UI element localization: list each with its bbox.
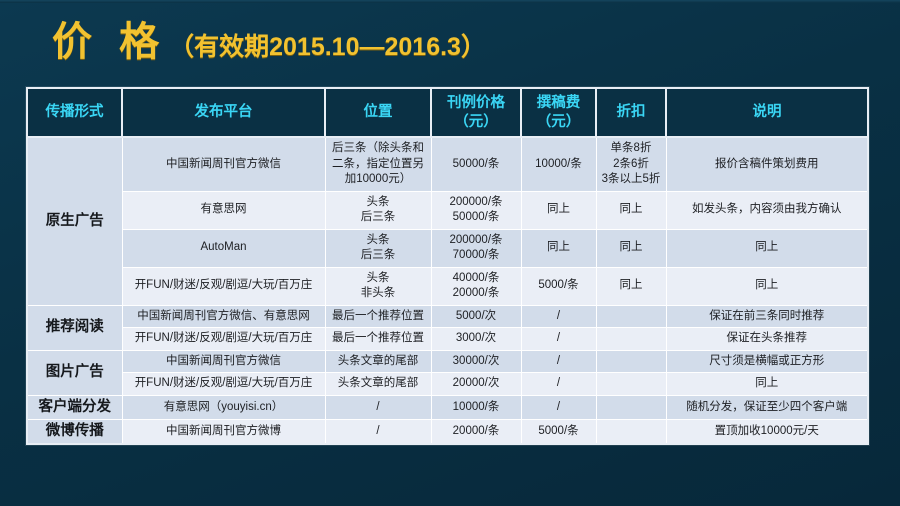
table-row: 客户端分发有意思网（youyisi.cn）/10000/条/随机分发，保证至少四… <box>28 395 867 419</box>
table-row: 有意思网头条 后三条200000/条 50000/条同上同上如发头条，内容须由我… <box>28 191 867 229</box>
table-row: 开FUN/财迷/反观/剧逗/大玩/百万庄最后一个推荐位置3000/次/保证在头条… <box>28 328 867 351</box>
cell-price: 200000/条 70000/条 <box>431 229 521 267</box>
cell-fee: 同上 <box>521 229 596 267</box>
cell-discount <box>596 328 666 351</box>
page-title: 价 格 （有效期2015.10—2016.3） <box>52 22 486 62</box>
cell-note: 同上 <box>666 373 867 396</box>
cell-platform: 有意思网（youyisi.cn） <box>122 395 325 419</box>
cell-fee: 5000/条 <box>521 420 596 444</box>
cell-discount <box>596 373 666 396</box>
table-row: 开FUN/财迷/反观/剧逗/大玩/百万庄头条文章的尾部20000/次/同上 <box>28 373 867 396</box>
cell-discount <box>596 350 666 373</box>
cell-note: 如发头条，内容须由我方确认 <box>666 191 867 229</box>
cell-price: 20000/条 <box>431 420 521 444</box>
column-header-price: 刊例价格 （元） <box>431 89 521 137</box>
cell-note: 同上 <box>666 229 867 267</box>
price-table: 传播形式 发布平台 位置 刊例价格 （元） 撰稿费 （元） 折扣 说明 原生广告… <box>28 89 867 443</box>
cell-discount: 单条8折 2条6折 3条以上5折 <box>596 137 666 191</box>
cell-platform: 中国新闻周刊官方微博 <box>122 420 325 444</box>
table-row: 图片广告中国新闻周刊官方微信头条文章的尾部30000/次/尺寸须是横幅或正方形 <box>28 350 867 373</box>
cell-note: 尺寸须是横幅或正方形 <box>666 350 867 373</box>
cell-position: 头条 后三条 <box>325 191 431 229</box>
cell-platform: 开FUN/财迷/反观/剧逗/大玩/百万庄 <box>122 267 325 305</box>
cell-platform: 中国新闻周刊官方微信、有意思网 <box>122 305 325 328</box>
table-row: 推荐阅读中国新闻周刊官方微信、有意思网最后一个推荐位置5000/次/保证在前三条… <box>28 305 867 328</box>
cell-price: 200000/条 50000/条 <box>431 191 521 229</box>
cell-position: 最后一个推荐位置 <box>325 328 431 351</box>
column-header-form: 传播形式 <box>28 89 122 137</box>
cell-category: 图片广告 <box>28 350 122 395</box>
cell-platform: 开FUN/财迷/反观/剧逗/大玩/百万庄 <box>122 328 325 351</box>
column-header-note: 说明 <box>666 89 867 137</box>
cell-position: 头条文章的尾部 <box>325 373 431 396</box>
table-header-row: 传播形式 发布平台 位置 刊例价格 （元） 撰稿费 （元） 折扣 说明 <box>28 89 867 137</box>
cell-category: 推荐阅读 <box>28 305 122 350</box>
cell-position: / <box>325 395 431 419</box>
cell-fee: 5000/条 <box>521 267 596 305</box>
cell-price: 5000/次 <box>431 305 521 328</box>
cell-position: 最后一个推荐位置 <box>325 305 431 328</box>
cell-discount: 同上 <box>596 191 666 229</box>
cell-fee: 同上 <box>521 191 596 229</box>
cell-price: 20000/次 <box>431 373 521 396</box>
cell-discount <box>596 305 666 328</box>
cell-discount: 同上 <box>596 229 666 267</box>
column-header-platform: 发布平台 <box>122 89 325 137</box>
cell-fee: / <box>521 373 596 396</box>
column-header-discount: 折扣 <box>596 89 666 137</box>
cell-fee: / <box>521 395 596 419</box>
cell-price: 10000/条 <box>431 395 521 419</box>
cell-platform: 有意思网 <box>122 191 325 229</box>
cell-discount <box>596 395 666 419</box>
cell-category: 客户端分发 <box>28 395 122 419</box>
cell-position: / <box>325 420 431 444</box>
price-table-frame: 传播形式 发布平台 位置 刊例价格 （元） 撰稿费 （元） 折扣 说明 原生广告… <box>26 87 869 445</box>
cell-price: 40000/条 20000/条 <box>431 267 521 305</box>
cell-position: 头条文章的尾部 <box>325 350 431 373</box>
title-validity-period: （有效期2015.10—2016.3） <box>169 35 486 60</box>
table-body: 原生广告中国新闻周刊官方微信后三条（除头条和 二条，指定位置另 加10000元）… <box>28 137 867 443</box>
table-row: AutoMan头条 后三条200000/条 70000/条同上同上同上 <box>28 229 867 267</box>
cell-position: 头条 后三条 <box>325 229 431 267</box>
cell-platform: 开FUN/财迷/反观/剧逗/大玩/百万庄 <box>122 373 325 396</box>
slide-canvas: 价 格 （有效期2015.10—2016.3） 传播形式 发布平台 位置 刊例价… <box>0 0 900 506</box>
cell-fee: / <box>521 305 596 328</box>
cell-note: 置顶加收10000元/天 <box>666 420 867 444</box>
cell-position: 头条 非头条 <box>325 267 431 305</box>
table-row: 开FUN/财迷/反观/剧逗/大玩/百万庄头条 非头条40000/条 20000/… <box>28 267 867 305</box>
cell-discount: 同上 <box>596 267 666 305</box>
cell-platform: 中国新闻周刊官方微信 <box>122 350 325 373</box>
column-header-fee: 撰稿费 （元） <box>521 89 596 137</box>
cell-fee: / <box>521 350 596 373</box>
cell-price: 3000/次 <box>431 328 521 351</box>
cell-category: 微博传播 <box>28 420 122 444</box>
cell-price: 50000/条 <box>431 137 521 191</box>
title-main-text: 价 格 <box>52 22 167 62</box>
table-row: 原生广告中国新闻周刊官方微信后三条（除头条和 二条，指定位置另 加10000元）… <box>28 137 867 191</box>
cell-discount <box>596 420 666 444</box>
table-header: 传播形式 发布平台 位置 刊例价格 （元） 撰稿费 （元） 折扣 说明 <box>28 89 867 137</box>
cell-note: 同上 <box>666 267 867 305</box>
cell-price: 30000/次 <box>431 350 521 373</box>
cell-position: 后三条（除头条和 二条，指定位置另 加10000元） <box>325 137 431 191</box>
table-row: 微博传播中国新闻周刊官方微博/20000/条5000/条置顶加收10000元/天 <box>28 420 867 444</box>
cell-platform: AutoMan <box>122 229 325 267</box>
cell-category: 原生广告 <box>28 137 122 305</box>
cell-fee: 10000/条 <box>521 137 596 191</box>
cell-note: 随机分发，保证至少四个客户端 <box>666 395 867 419</box>
cell-fee: / <box>521 328 596 351</box>
cell-platform: 中国新闻周刊官方微信 <box>122 137 325 191</box>
column-header-position: 位置 <box>325 89 431 137</box>
cell-note: 保证在头条推荐 <box>666 328 867 351</box>
cell-note: 保证在前三条同时推荐 <box>666 305 867 328</box>
cell-note: 报价含稿件策划费用 <box>666 137 867 191</box>
